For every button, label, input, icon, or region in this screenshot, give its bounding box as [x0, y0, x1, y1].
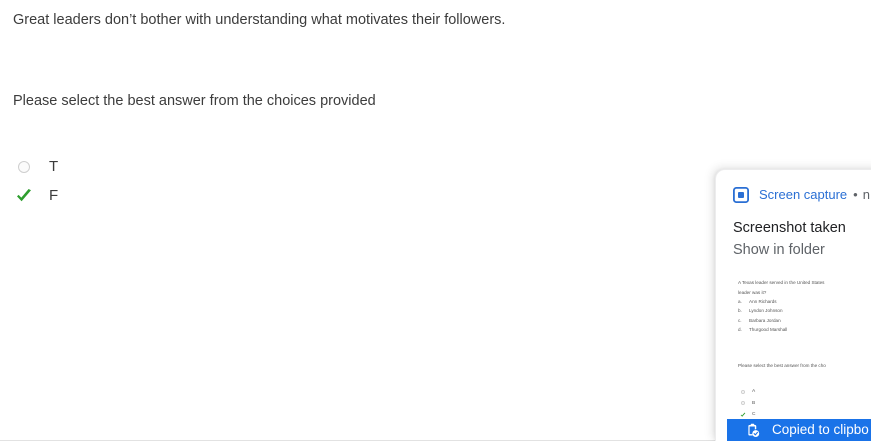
answer-choice-f[interactable]: F	[13, 181, 313, 210]
thumbnail-choice-a: A	[738, 386, 871, 398]
screen-capture-notification[interactable]: Screen capture • n Screenshot taken Show…	[715, 169, 871, 441]
notification-separator: •	[853, 187, 858, 203]
thumbnail-choice-list: A B C	[732, 386, 871, 421]
thumbnail-stem-line-1: A Texas leader served in the United Stat…	[732, 270, 871, 288]
thumbnail-choice-b: B	[738, 398, 871, 410]
notification-source[interactable]: Screen capture	[759, 187, 847, 203]
thumbnail-instruction: Please select the best answer from the c…	[732, 361, 871, 371]
question-stem: Great leaders don’t bother with understa…	[13, 11, 505, 29]
thumbnail-option-a-key: a.	[738, 297, 749, 306]
notification-title: Screenshot taken	[716, 219, 871, 237]
thumbnail-option-a: a. Ann Richards	[732, 297, 871, 306]
green-check-icon	[13, 185, 35, 207]
instruction-text: Please select the best answer from the c…	[13, 92, 376, 110]
thumbnail-option-b-key: b.	[738, 306, 749, 315]
thumbnail-option-b-text: Lyndon Johnson	[749, 306, 783, 315]
screen-capture-icon	[733, 187, 749, 203]
thumbnail-option-d-key: d.	[738, 325, 749, 334]
thumbnail-radio-unselected-icon	[738, 401, 747, 405]
notification-header: Screen capture • n	[716, 184, 871, 206]
thumbnail-option-c-key: c.	[738, 316, 749, 325]
thumbnail-option-b: b. Lyndon Johnson	[732, 306, 871, 315]
answer-choice-t-label: T	[49, 158, 58, 176]
answer-choice-list: T F	[13, 152, 313, 210]
thumbnail-option-c: c. Barbara Jordan	[732, 316, 871, 325]
thumbnail-stem-line-2: leader was it?	[732, 288, 871, 298]
copied-to-clipboard-toast[interactable]: Copied to clipbo	[727, 419, 871, 441]
toast-message: Copied to clipbo	[772, 422, 869, 438]
answer-choice-f-label: F	[49, 187, 58, 205]
notification-timestamp: n	[863, 187, 870, 203]
thumbnail-option-d: d. Thurgood Marshall	[732, 325, 871, 334]
clipboard-check-icon	[745, 423, 760, 438]
show-in-folder-button[interactable]: Show in folder	[716, 241, 871, 259]
screenshot-thumbnail-preview[interactable]: A Texas leader served in the United Stat…	[732, 270, 871, 441]
answer-choice-t[interactable]: T	[13, 152, 313, 181]
radio-unselected-icon[interactable]	[13, 156, 35, 178]
thumbnail-option-a-text: Ann Richards	[749, 297, 777, 306]
thumbnail-choice-b-label: B	[752, 399, 755, 408]
thumbnail-choice-a-label: A	[752, 387, 755, 396]
thumbnail-radio-unselected-icon	[738, 390, 747, 394]
thumbnail-option-d-text: Thurgood Marshall	[749, 325, 787, 334]
thumbnail-option-c-text: Barbara Jordan	[749, 316, 781, 325]
thumbnail-green-check-icon	[738, 412, 747, 418]
